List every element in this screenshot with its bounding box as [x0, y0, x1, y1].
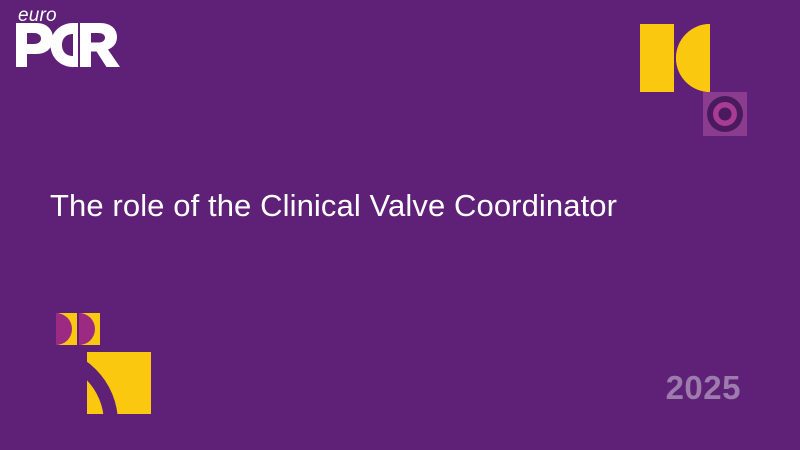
logo-pcr-wordmark: [16, 22, 124, 68]
small-square-two: [79, 313, 100, 345]
top-right-graphic-svg: [632, 24, 756, 140]
bottom-left-graphic-svg: [48, 305, 168, 450]
small-square-one: [56, 313, 77, 345]
europcr-logo: euro: [16, 6, 136, 68]
slide-canvas: euro The role of the Clinical Valve Coor…: [0, 0, 800, 450]
concentric-rings-square: [703, 92, 747, 136]
page-title: The role of the Clinical Valve Coordinat…: [50, 186, 750, 226]
bottom-left-graphic: [48, 305, 168, 450]
yellow-rect: [640, 24, 674, 92]
yellow-half-disc-block: [674, 24, 710, 92]
year-label: 2025: [666, 369, 741, 407]
top-right-graphic: [632, 24, 756, 140]
large-square-with-arc: [48, 347, 151, 423]
